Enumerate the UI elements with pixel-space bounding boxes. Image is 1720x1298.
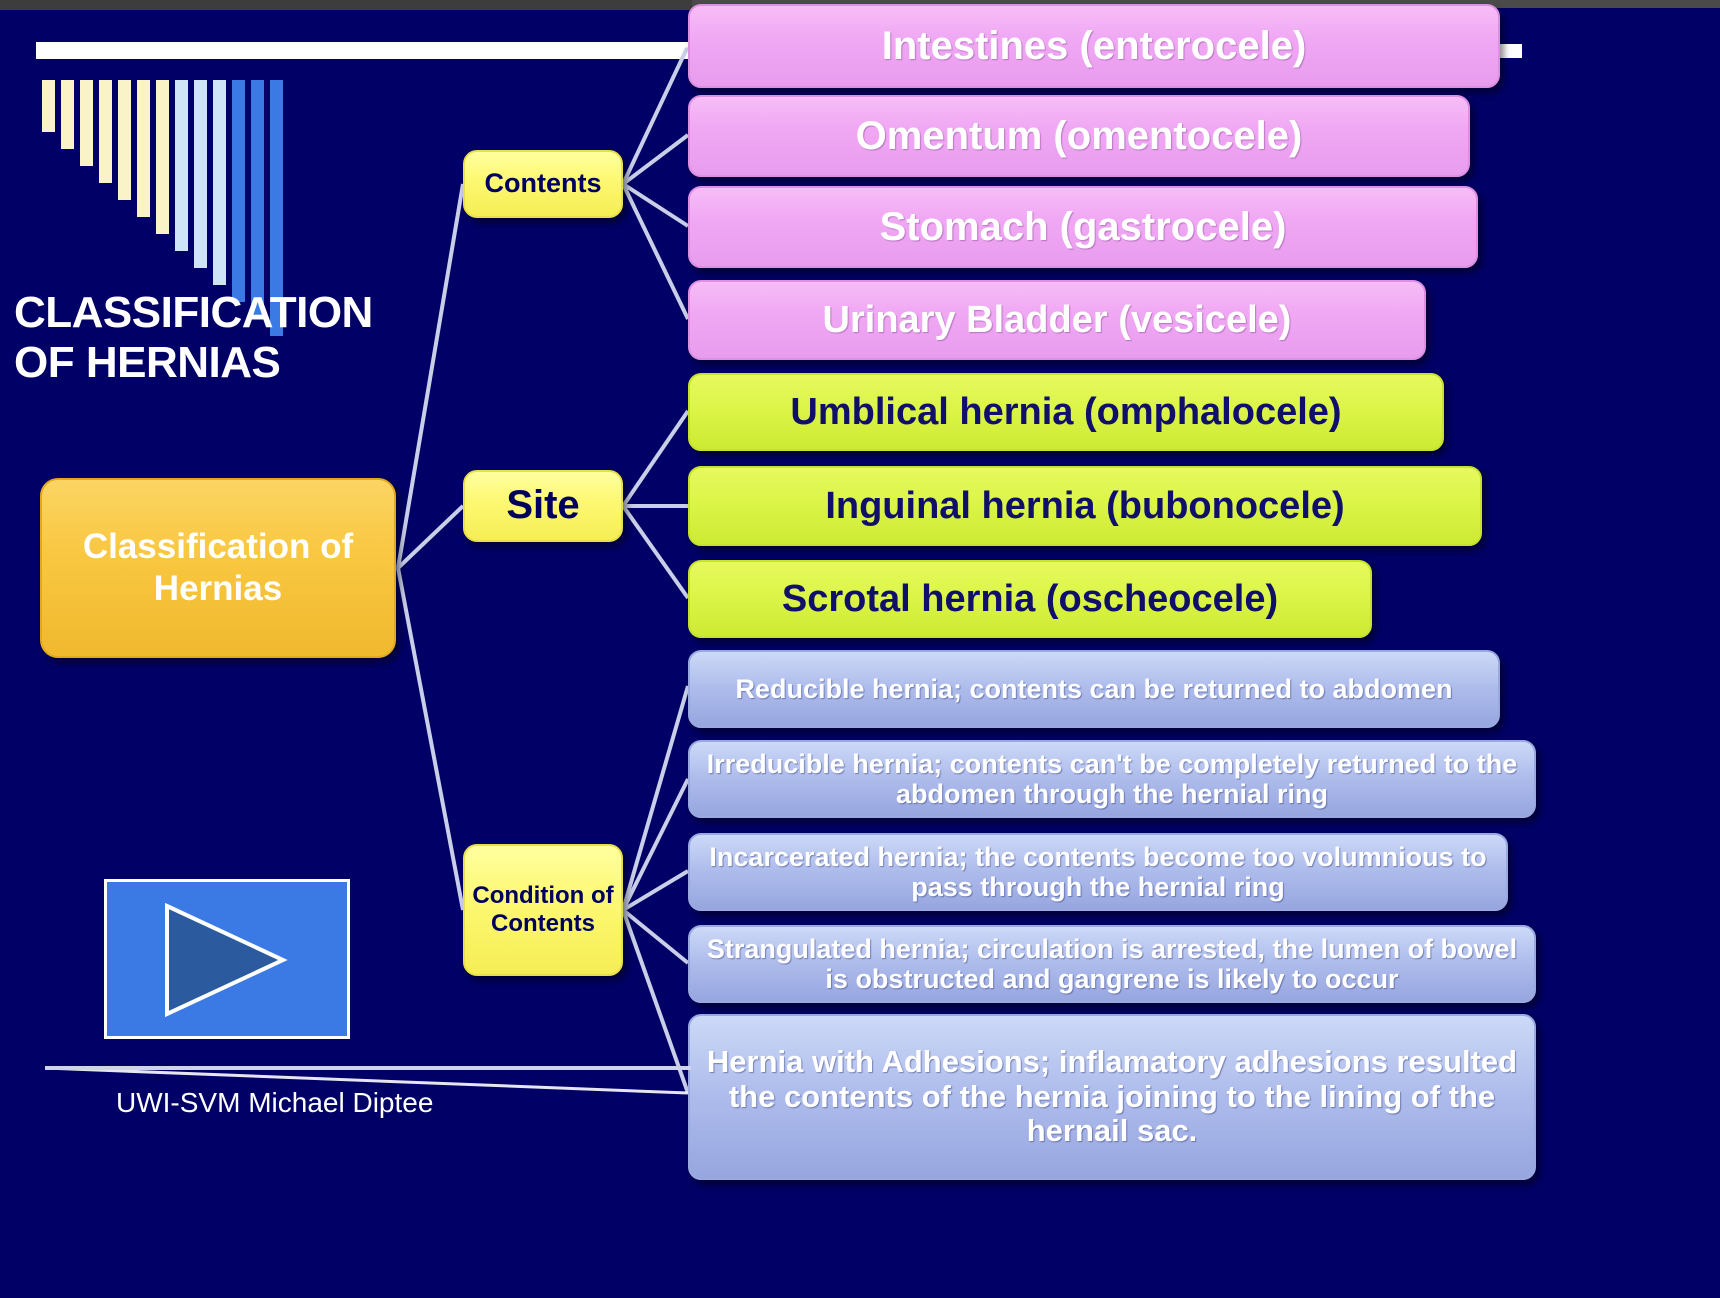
footer-divider — [45, 1066, 691, 1070]
decorative-bar — [251, 80, 264, 319]
decorative-bar — [99, 80, 112, 183]
page-title-line2: OF HERNIAS — [14, 338, 444, 388]
decorative-bar — [156, 80, 169, 234]
node-branch-condition[interactable]: Condition of Contents — [463, 844, 623, 976]
decorative-bar — [194, 80, 207, 268]
decorative-bar — [137, 80, 150, 217]
top-strip-left — [0, 0, 692, 10]
leaf-condition-5[interactable]: Hernia with Adhesions; inflamatory adhes… — [688, 1014, 1536, 1180]
page-title: CLASSIFICATION OF HERNIAS — [14, 288, 444, 387]
video-placeholder[interactable] — [104, 879, 350, 1039]
node-branch-contents[interactable]: Contents — [463, 150, 623, 218]
node-root[interactable]: Classification of Hernias — [40, 478, 396, 658]
decorative-bar — [118, 80, 131, 200]
leaf-site-2[interactable]: Inguinal hernia (bubonocele) — [688, 466, 1482, 546]
leaf-condition-1[interactable]: Reducible hernia; contents can be return… — [688, 650, 1500, 728]
leaf-condition-3[interactable]: Incarcerated hernia; the contents become… — [688, 833, 1508, 911]
leaf-condition-4[interactable]: Strangulated hernia; circulation is arre… — [688, 925, 1536, 1003]
decorative-bars — [42, 80, 292, 300]
page-title-line1: CLASSIFICATION — [14, 288, 444, 338]
leaf-site-1[interactable]: Umblical hernia (omphalocele) — [688, 373, 1444, 451]
leaf-contents-2[interactable]: Omentum (omentocele) — [688, 95, 1470, 177]
decorative-bar — [42, 80, 55, 132]
leaf-contents-3[interactable]: Stomach (gastrocele) — [688, 186, 1478, 268]
footer-credit: UWI-SVM Michael Diptee — [116, 1087, 433, 1119]
decorative-bar — [213, 80, 226, 285]
decorative-bar — [232, 80, 245, 302]
leaf-contents-1[interactable]: Intestines (enterocele) — [688, 4, 1500, 88]
node-branch-site[interactable]: Site — [463, 470, 623, 542]
decorative-bar — [80, 80, 93, 166]
leaf-contents-4[interactable]: Urinary Bladder (vesicele) — [688, 280, 1426, 360]
play-icon — [107, 882, 347, 1036]
decorative-bar — [61, 80, 74, 149]
leaf-condition-2[interactable]: Irreducible hernia; contents can't be co… — [688, 740, 1536, 818]
leaf-site-3[interactable]: Scrotal hernia (oscheocele) — [688, 560, 1372, 638]
decorative-bar — [175, 80, 188, 251]
slide-canvas: CLASSIFICATION OF HERNIAS — [0, 0, 1720, 1298]
